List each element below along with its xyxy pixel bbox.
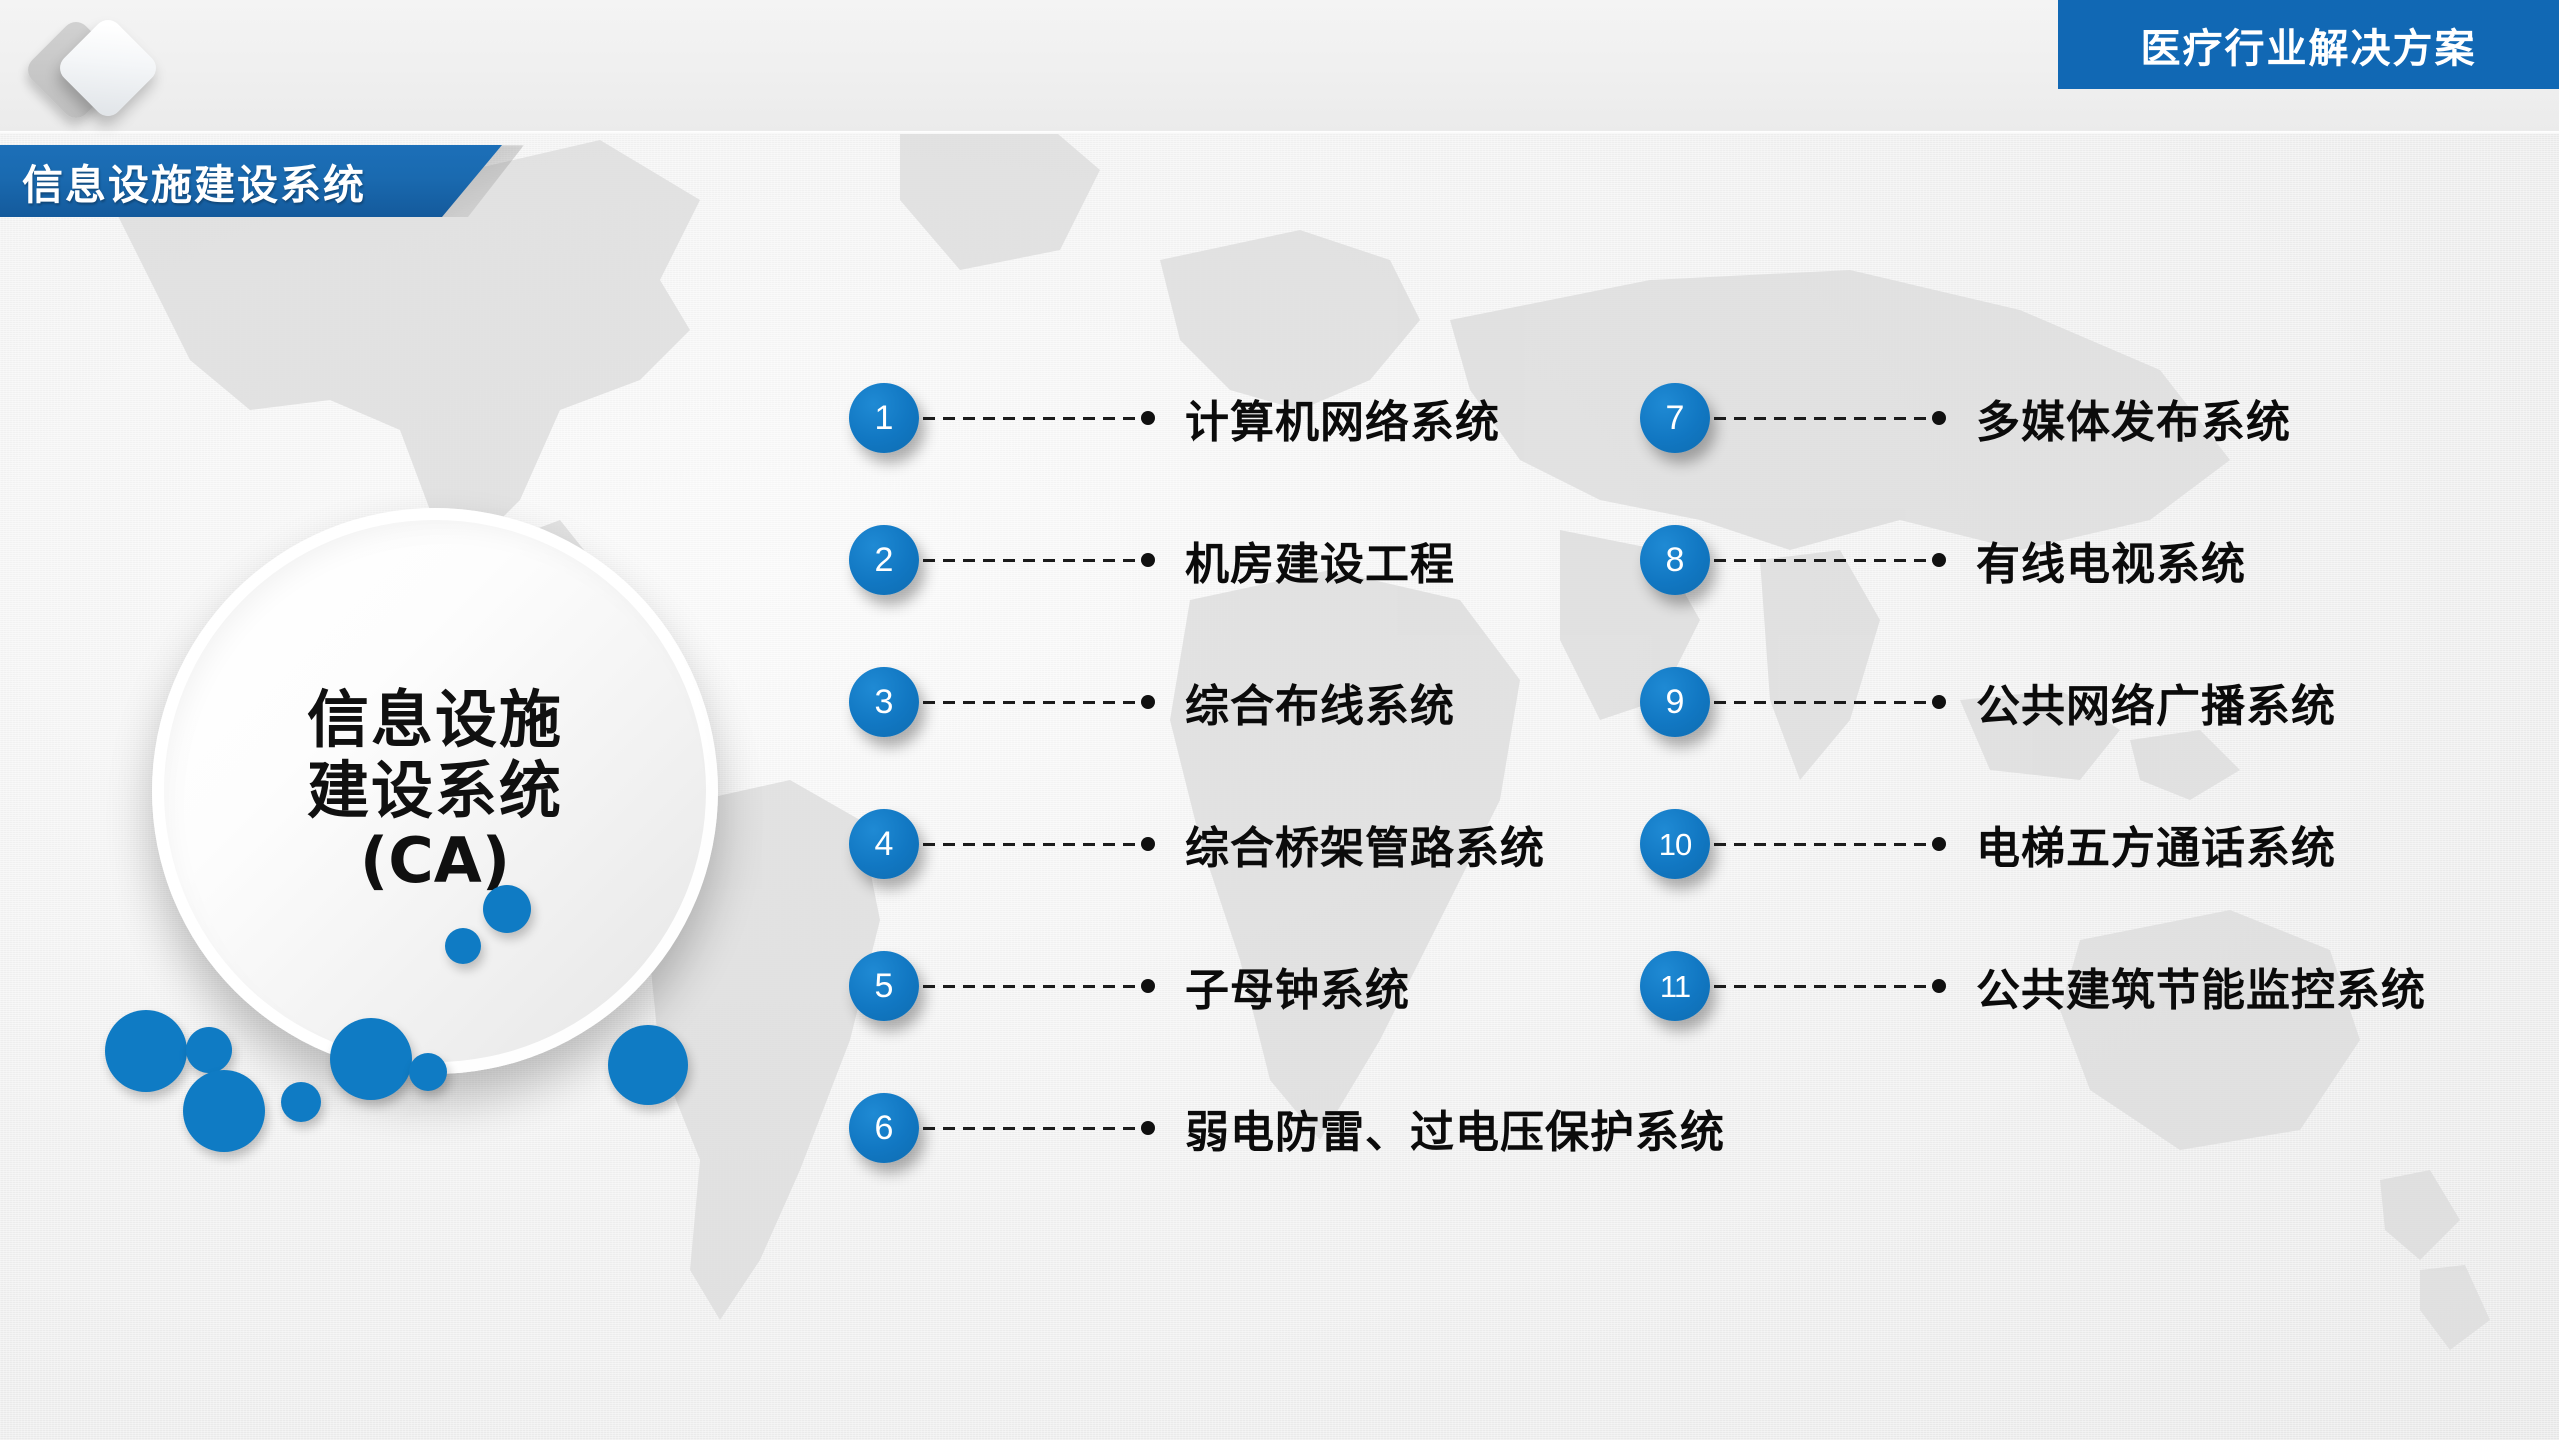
item-connector-dashed-line <box>923 843 1143 846</box>
section-title-label: 信息设施建设系统 <box>22 151 366 211</box>
item-connector-end-dot <box>1932 695 1946 709</box>
item-number-label: 4 <box>875 827 894 861</box>
decor-dot-6 <box>409 1053 447 1091</box>
item-number-badge-3[interactable]: 3 <box>849 667 919 737</box>
item-label: 机房建设工程 <box>1185 528 1455 592</box>
item-number-label: 10 <box>1659 829 1691 860</box>
item-number-badge-9[interactable]: 9 <box>1640 667 1710 737</box>
item-number-badge-1[interactable]: 1 <box>849 383 919 453</box>
item-number-badge-2[interactable]: 2 <box>849 525 919 595</box>
item-connector-end-dot <box>1141 411 1155 425</box>
item-number-badge-7[interactable]: 7 <box>1640 383 1710 453</box>
section-title-tab: 信息设施建设系统 <box>0 145 502 217</box>
item-connector-dashed-line <box>1714 417 1934 420</box>
item-label: 多媒体发布系统 <box>1976 386 2291 450</box>
item-connector-dashed-line <box>923 985 1143 988</box>
item-number-label: 1 <box>875 401 894 435</box>
item-connector-end-dot <box>1932 553 1946 567</box>
item-connector-end-dot <box>1932 979 1946 993</box>
item-number-label: 11 <box>1660 971 1690 1002</box>
item-connector-dashed-line <box>1714 701 1934 704</box>
decor-dot-1 <box>105 1010 187 1092</box>
item-connector-end-dot <box>1141 837 1155 851</box>
decor-dot-9 <box>608 1025 688 1105</box>
hub-line-1: 信息设施 <box>307 685 563 756</box>
item-number-label: 7 <box>1666 401 1685 435</box>
item-connector-end-dot <box>1932 837 1946 851</box>
list-item[interactable]: 2机房建设工程 <box>849 524 1455 596</box>
hub-circle: 信息设施 建设系统 (CA) <box>152 508 718 1074</box>
list-item[interactable]: 1计算机网络系统 <box>849 382 1500 454</box>
item-connector-end-dot <box>1141 979 1155 993</box>
item-number-label: 8 <box>1666 543 1685 577</box>
decor-dot-3 <box>183 1070 265 1152</box>
item-number-badge-6[interactable]: 6 <box>849 1093 919 1163</box>
item-number-badge-11[interactable]: 11 <box>1640 951 1710 1021</box>
decor-dot-8 <box>483 885 531 933</box>
item-connector-dashed-line <box>1714 559 1934 562</box>
list-item[interactable]: 9公共网络广播系统 <box>1640 666 2336 738</box>
decor-dot-4 <box>281 1082 321 1122</box>
item-label: 公共网络广播系统 <box>1976 670 2336 734</box>
top-band-divider <box>0 131 2559 134</box>
list-item[interactable]: 11公共建筑节能监控系统 <box>1640 950 2426 1022</box>
item-connector-dashed-line <box>923 559 1143 562</box>
item-connector-dashed-line <box>923 1127 1143 1130</box>
hub-line-3: (CA) <box>307 826 563 897</box>
item-label: 子母钟系统 <box>1185 954 1410 1018</box>
list-item[interactable]: 6弱电防雷、过电压保护系统 <box>849 1092 1725 1164</box>
hub-line-2: 建设系统 <box>307 756 563 827</box>
item-connector-end-dot <box>1141 553 1155 567</box>
item-label: 综合桥架管路系统 <box>1185 812 1545 876</box>
item-label: 有线电视系统 <box>1976 528 2246 592</box>
decor-dot-2 <box>186 1027 232 1073</box>
decor-dot-7 <box>445 928 481 964</box>
item-number-badge-4[interactable]: 4 <box>849 809 919 879</box>
item-connector-end-dot <box>1141 1121 1155 1135</box>
list-item[interactable]: 7多媒体发布系统 <box>1640 382 2291 454</box>
item-connector-dashed-line <box>1714 985 1934 988</box>
item-connector-dashed-line <box>1714 843 1934 846</box>
item-number-label: 6 <box>875 1111 894 1145</box>
diamond-logo <box>26 12 156 130</box>
item-number-label: 2 <box>875 543 894 577</box>
item-label: 公共建筑节能监控系统 <box>1976 954 2426 1018</box>
item-number-badge-8[interactable]: 8 <box>1640 525 1710 595</box>
decor-dot-5 <box>330 1018 412 1100</box>
item-connector-end-dot <box>1141 695 1155 709</box>
item-label: 综合布线系统 <box>1185 670 1455 734</box>
header-banner: 医疗行业解决方案 <box>2058 0 2559 89</box>
item-connector-dashed-line <box>923 701 1143 704</box>
hub-circle-text: 信息设施 建设系统 (CA) <box>307 685 563 897</box>
list-item[interactable]: 4综合桥架管路系统 <box>849 808 1545 880</box>
item-label: 计算机网络系统 <box>1185 386 1500 450</box>
item-number-badge-5[interactable]: 5 <box>849 951 919 1021</box>
list-item[interactable]: 5子母钟系统 <box>849 950 1410 1022</box>
item-connector-end-dot <box>1932 411 1946 425</box>
item-connector-dashed-line <box>923 417 1143 420</box>
header-banner-title: 医疗行业解决方案 <box>2141 16 2477 74</box>
item-label: 弱电防雷、过电压保护系统 <box>1185 1096 1725 1160</box>
item-number-label: 5 <box>875 969 894 1003</box>
list-item[interactable]: 3综合布线系统 <box>849 666 1455 738</box>
item-number-badge-10[interactable]: 10 <box>1640 809 1710 879</box>
item-label: 电梯五方通话系统 <box>1976 812 2336 876</box>
slide-root: 医疗行业解决方案 信息设施建设系统 信息设施 建设系统 (CA) 1计算机网络系… <box>0 0 2559 1440</box>
list-item[interactable]: 10电梯五方通话系统 <box>1640 808 2336 880</box>
item-number-label: 9 <box>1666 685 1685 719</box>
list-item[interactable]: 8有线电视系统 <box>1640 524 2246 596</box>
item-number-label: 3 <box>875 685 894 719</box>
